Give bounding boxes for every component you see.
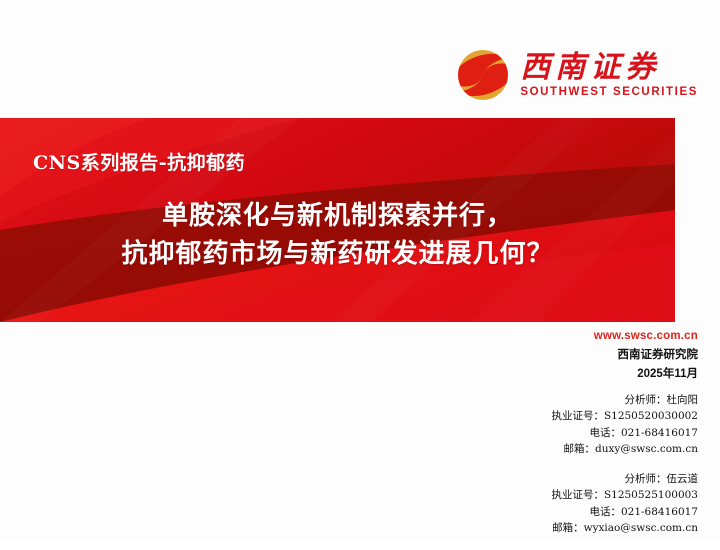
- publisher-meta: www.swsc.com.cn 西南证券研究院 2025年11月: [368, 328, 698, 384]
- page-title: 单胺深化与新机制探索并行， 抗抑郁药市场与新药研发进展几何？: [0, 198, 675, 273]
- brand-name-cn: 西南证券: [520, 52, 660, 84]
- analyst-card: 分析师：杜向阳 执业证号：S1250520030002 电话：021-68416…: [358, 392, 698, 457]
- page-title-line-1: 单胺深化与新机制探索并行，: [162, 201, 513, 231]
- southwest-securities-circle-logo: [456, 48, 510, 102]
- analyst-license: 执业证号：S1250520030002: [358, 408, 698, 424]
- research-institute-name: 西南证券研究院: [368, 345, 698, 365]
- analyst-name: 分析师：杜向阳: [358, 392, 698, 408]
- brand-logo: 西南证券 SOUTHWEST SECURITIES: [456, 44, 698, 106]
- analyst-card: 分析师：伍云道 执业证号：S1250525100003 电话：021-68416…: [358, 471, 698, 536]
- analyst-phone: 电话：021-68416017: [358, 504, 698, 520]
- analyst-license: 执业证号：S1250525100003: [358, 487, 698, 503]
- page-title-line-2: 抗抑郁药市场与新药研发进展几何？: [0, 236, 675, 274]
- brand-logo-text: 西南证券 SOUTHWEST SECURITIES: [520, 52, 698, 98]
- analyst-email[interactable]: 邮箱：wyxiao@swsc.com.cn: [358, 520, 698, 536]
- report-series-kicker: CNS系列报告-抗抑郁药: [33, 148, 245, 175]
- title-banner: CNS系列报告-抗抑郁药 单胺深化与新机制探索并行， 抗抑郁药市场与新药研发进展…: [0, 118, 675, 322]
- brand-name-en: SOUTHWEST SECURITIES: [520, 86, 698, 98]
- publication-date: 2025年11月: [368, 365, 698, 385]
- analyst-list: 分析师：杜向阳 执业证号：S1250520030002 电话：021-68416…: [358, 392, 698, 550]
- analyst-name: 分析师：伍云道: [358, 471, 698, 487]
- website-url[interactable]: www.swsc.com.cn: [368, 328, 698, 345]
- analyst-email[interactable]: 邮箱：duxy@swsc.com.cn: [358, 441, 698, 457]
- report-cover-slide: 西南证券 SOUTHWEST SECURITIES: [0, 0, 720, 540]
- analyst-phone: 电话：021-68416017: [358, 425, 698, 441]
